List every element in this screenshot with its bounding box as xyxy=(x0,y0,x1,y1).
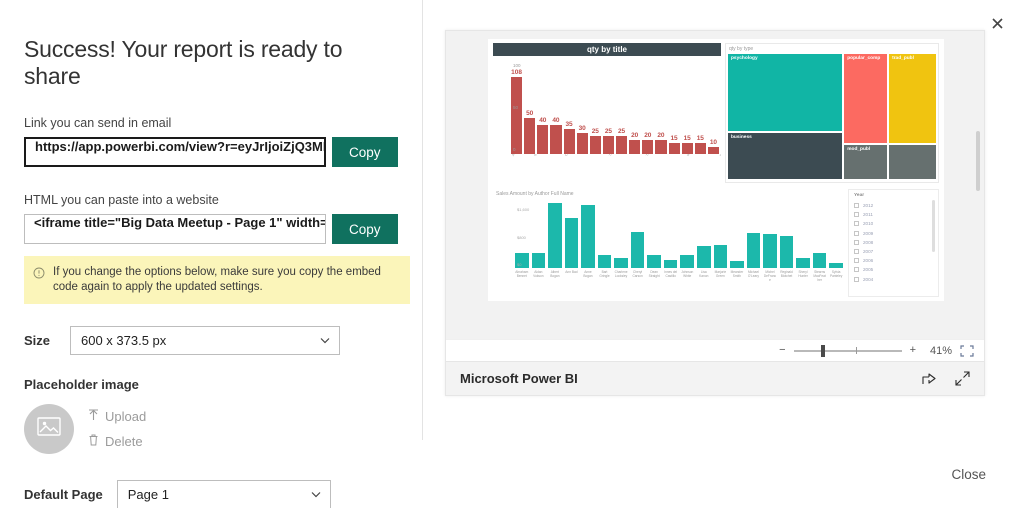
slicer-item-label: 2005 xyxy=(863,267,873,272)
axis-tick-label: Dean Straight xyxy=(647,270,661,282)
fullscreen-icon[interactable] xyxy=(955,371,970,386)
checkbox[interactable] xyxy=(854,240,859,245)
bar[interactable] xyxy=(680,255,694,268)
preview-pane: qty by title 108504040353025252520202015… xyxy=(423,0,1024,440)
copy-html-button[interactable]: Copy xyxy=(332,214,398,244)
bar[interactable] xyxy=(730,261,744,268)
copy-link-button[interactable]: Copy xyxy=(332,137,398,167)
checkbox[interactable] xyxy=(854,267,859,272)
axis-tick-label: Lisa Kanon xyxy=(697,270,711,282)
slicer-item[interactable]: 2010 xyxy=(849,219,938,228)
bar xyxy=(577,133,588,155)
bar[interactable] xyxy=(631,232,645,268)
treemap-cell-label: business xyxy=(731,135,752,140)
checkbox[interactable] xyxy=(854,258,859,263)
axis-tick-label: Innes del Castillo xyxy=(664,270,678,282)
zoom-level-value: 41% xyxy=(924,345,952,357)
treemap-cell-label: mod_publ xyxy=(847,147,870,152)
bar[interactable] xyxy=(697,246,711,268)
bar-value-label: 30 xyxy=(577,125,588,132)
checkbox[interactable] xyxy=(854,277,859,282)
embed-warning-banner: If you change the options below, make su… xyxy=(24,256,410,304)
upload-icon xyxy=(88,409,99,424)
bar xyxy=(524,118,535,154)
axis-tick-label: Michel DeFrance xyxy=(763,270,777,282)
axis-tick-label: $1,600 xyxy=(517,207,529,212)
image-placeholder-icon xyxy=(37,417,61,441)
powerbi-brand: Microsoft Power BI xyxy=(460,371,578,386)
visual-title: qty by type xyxy=(726,44,938,54)
bar-value-label: 25 xyxy=(603,128,614,135)
axis-tick-label: Bart Gringle xyxy=(598,270,612,282)
bar-column[interactable]: 25 xyxy=(590,68,601,154)
visual-qty-by-type[interactable]: qty by type psychology business xyxy=(725,43,939,183)
slicer-item[interactable]: 2009 xyxy=(849,229,938,238)
checkbox[interactable] xyxy=(854,231,859,236)
bar-column[interactable]: 40 xyxy=(537,68,548,154)
report-canvas[interactable]: qty by title 108504040353025252520202015… xyxy=(446,31,984,339)
bar-value-label: 15 xyxy=(682,135,693,142)
link-field-label: Link you can send in email xyxy=(24,116,398,130)
treemap-cell[interactable]: business xyxy=(728,133,842,179)
bar-value-label: 25 xyxy=(616,128,627,135)
bar-value-label: 10 xyxy=(708,139,719,146)
size-select-value: 600 x 373.5 px xyxy=(81,333,166,348)
slicer-item-label: 2004 xyxy=(863,277,873,282)
bar-value-label: 40 xyxy=(550,117,561,124)
treemap-cell-label: psychology xyxy=(731,56,758,61)
treemap-cell-label: trad_publ xyxy=(892,56,914,61)
slicer-item-label: 2006 xyxy=(863,258,873,263)
slicer-item-label: 2007 xyxy=(863,249,873,254)
zoom-slider[interactable] xyxy=(794,350,902,352)
treemap-cell[interactable]: popular_comp xyxy=(844,54,887,143)
bar xyxy=(511,77,522,154)
info-shield-icon xyxy=(33,266,45,284)
axis-tick-label: $0 xyxy=(517,262,521,267)
slicer-item-label: 2010 xyxy=(863,221,873,226)
upload-label: Upload xyxy=(105,409,146,424)
canvas-scrollbar[interactable] xyxy=(976,131,980,191)
size-select[interactable]: 600 x 373.5 px xyxy=(70,326,340,355)
column-chart-xaxis: Abraham BennetAidan VuksonAlbert BoganAn… xyxy=(515,270,843,282)
treemap-column-left: psychology business xyxy=(728,54,842,179)
bar-column[interactable]: 15 xyxy=(695,68,706,154)
treemap-cell[interactable]: mod_publ xyxy=(844,145,887,179)
axis-tick-label: The Lazarus Corridor Room xyxy=(645,154,686,167)
axis-tick-label: Michael O'Leary xyxy=(747,270,761,282)
link-input[interactable]: https://app.powerbi.com/view?r=eyJrIjoiZ… xyxy=(24,137,326,167)
axis-tick-label: Charlene Locksley xyxy=(614,270,628,282)
html-input[interactable]: <iframe title="Big Data Meetup - Page 1"… xyxy=(24,214,326,244)
bar xyxy=(655,140,666,154)
dialog-body: Success! Your report is ready to share L… xyxy=(0,0,1024,440)
slicer-item[interactable]: 2006 xyxy=(849,256,938,265)
bar-value-label: 25 xyxy=(590,128,601,135)
html-field-row: <iframe title="Big Data Meetup - Page 1"… xyxy=(24,214,398,244)
bar-value-label: 50 xyxy=(524,110,535,117)
checkbox[interactable] xyxy=(854,203,859,208)
axis-tick-label: Winter and the Chameleon Sunset xyxy=(719,154,721,167)
slicer-item[interactable]: 2011 xyxy=(849,210,938,219)
bar-value-label: 35 xyxy=(564,121,575,128)
bar-column[interactable]: 25 xyxy=(616,68,627,154)
axis-tick-label: Seven Stars Shining xyxy=(533,154,569,167)
bar-chart-plot: 108504040353025252520202015151510100500 xyxy=(511,56,719,154)
powerbi-footer: Microsoft Power BI xyxy=(446,361,984,395)
bar xyxy=(695,143,706,154)
bar[interactable] xyxy=(548,203,562,268)
bar-column[interactable]: 50 xyxy=(524,68,535,154)
axis-tick-label: Sylvia Panteley xyxy=(829,270,843,282)
slicer-item-label: 2012 xyxy=(863,203,873,208)
bar-column[interactable]: 35 xyxy=(564,68,575,154)
bar[interactable] xyxy=(780,236,794,268)
bar-value-label: 15 xyxy=(695,135,706,142)
size-row: Size 600 x 373.5 px xyxy=(24,326,398,355)
axis-tick-label: Meander Smith xyxy=(730,270,744,282)
bar xyxy=(564,129,575,154)
slicer-item[interactable]: 2012 xyxy=(849,201,938,210)
bar[interactable] xyxy=(647,255,661,268)
axis-tick-label: Common Trades of the Cellar xyxy=(564,154,606,167)
slicer-items: 201220112010200920082007200620052004 xyxy=(849,201,938,284)
treemap-column-mid: popular_comp mod_publ xyxy=(844,54,887,179)
slicer-item-label: 2009 xyxy=(863,231,873,236)
bar xyxy=(590,136,601,154)
bar-column[interactable]: 20 xyxy=(655,68,666,154)
bar[interactable] xyxy=(598,255,612,268)
axis-tick-label: Anne Bogan xyxy=(581,270,595,282)
report-page: qty by title 108504040353025252520202015… xyxy=(488,39,944,301)
bar xyxy=(682,143,693,154)
axis-tick-label: Cheryl Carson xyxy=(631,270,645,282)
bar-column[interactable]: 20 xyxy=(642,68,653,154)
visual-year-slicer[interactable]: Year 20122011201020092008200720062005200… xyxy=(848,189,939,297)
axis-tick-label: 50 xyxy=(513,105,518,110)
bar-value-label: 40 xyxy=(537,117,548,124)
page-title: Success! Your report is ready to share xyxy=(24,36,398,90)
settings-pane: Success! Your report is ready to share L… xyxy=(0,0,423,440)
visual-title: Sales Amount by Author Full Name xyxy=(493,189,843,200)
slicer-title: Year xyxy=(849,190,938,201)
bar-value-label: 20 xyxy=(655,132,666,139)
visual-sales-by-author[interactable]: Sales Amount by Author Full Name $1,600$… xyxy=(493,189,843,297)
axis-tick-label: Johnson White xyxy=(680,270,694,282)
bar[interactable] xyxy=(813,253,827,268)
checkbox[interactable] xyxy=(854,212,859,217)
slicer-item[interactable]: 2005 xyxy=(849,265,938,274)
axis-tick-label: Sheryl Hunter xyxy=(796,270,810,282)
embed-report-dialog: Success! Your report is ready to share L… xyxy=(0,0,1024,508)
bar-value-label: 20 xyxy=(642,132,653,139)
slicer-item[interactable]: 2007 xyxy=(849,247,938,256)
bar[interactable] xyxy=(581,205,595,268)
bar[interactable] xyxy=(763,234,777,268)
report-preview: qty by title 108504040353025252520202015… xyxy=(445,30,985,396)
treemap-cell[interactable] xyxy=(889,145,936,179)
zoom-slider-thumb[interactable] xyxy=(821,345,825,357)
bar xyxy=(616,136,627,154)
link-field-row: https://app.powerbi.com/view?r=eyJrIjoiZ… xyxy=(24,137,398,167)
axis-tick-label: Reginald Blotchet xyxy=(780,270,794,282)
chevron-down-icon xyxy=(320,335,330,346)
share-icon[interactable] xyxy=(921,372,937,386)
bar-column[interactable]: 108 xyxy=(511,68,522,154)
zoom-out-button[interactable]: − xyxy=(779,345,785,356)
zoom-slider-tick xyxy=(856,347,857,354)
slicer-item[interactable]: 2008 xyxy=(849,238,938,247)
treemap-cell-label: popular_comp xyxy=(847,56,880,61)
axis-tick-label: The Woman's Weakness xyxy=(608,154,647,167)
html-field-label: HTML you can paste into a website xyxy=(24,193,398,207)
bar xyxy=(642,140,653,154)
axis-tick-label: 100 xyxy=(513,63,521,68)
slicer-scrollbar[interactable] xyxy=(932,200,935,252)
slicer-item-label: 2011 xyxy=(863,212,873,217)
bar[interactable] xyxy=(714,245,728,268)
bar-column[interactable]: 30 xyxy=(577,68,588,154)
placeholder-image-label: Placeholder image xyxy=(24,377,398,392)
embed-warning-text: If you change the options below, make su… xyxy=(53,265,400,295)
upload-button[interactable]: Upload xyxy=(88,409,146,424)
bar-column[interactable]: 20 xyxy=(629,68,640,154)
slicer-item-label: 2008 xyxy=(863,240,873,245)
bar xyxy=(669,143,680,154)
axis-tick-label: Ann Bad xyxy=(565,270,579,282)
checkbox[interactable] xyxy=(854,249,859,254)
axis-tick-label: Albert Bogan xyxy=(548,270,562,282)
axis-tick-label: Abraham Bennet xyxy=(515,270,529,282)
treemap-grid: psychology business popular_comp xyxy=(728,54,936,179)
treemap-cell[interactable]: psychology xyxy=(728,54,842,131)
bar-column[interactable]: 10 xyxy=(708,68,719,154)
column-chart-plot: $1,600$800$0 xyxy=(515,200,843,268)
treemap-cell[interactable]: trad_publ xyxy=(889,54,936,143)
axis-tick-label: 0 xyxy=(513,147,516,152)
zoom-toolbar: − + 41% xyxy=(446,339,984,361)
fit-to-screen-icon[interactable] xyxy=(960,345,974,357)
bar-value-label: 20 xyxy=(629,132,640,139)
slicer-item[interactable]: 2004 xyxy=(849,275,938,284)
bar xyxy=(708,147,719,154)
dialog-footer: Close xyxy=(0,440,1024,508)
bar[interactable] xyxy=(796,258,810,268)
zoom-in-button[interactable]: + xyxy=(910,345,916,356)
bar xyxy=(629,140,640,154)
bar-value-label: 108 xyxy=(511,69,522,76)
bar[interactable] xyxy=(565,218,579,268)
bar[interactable] xyxy=(664,260,678,269)
visual-qty-by-title[interactable]: qty by title 108504040353025252520202015… xyxy=(493,43,721,183)
bar-column[interactable]: 40 xyxy=(550,68,561,154)
axis-tick-label: $800 xyxy=(517,235,526,240)
bar xyxy=(537,125,548,154)
bar-chart-xaxis: A Heart Like...Seven Stars ShiningCommon… xyxy=(511,154,721,180)
bar-value-label: 15 xyxy=(669,135,680,142)
visual-title: qty by title xyxy=(493,43,721,56)
axis-tick-label: Aidan Vukson xyxy=(532,270,546,282)
bar xyxy=(603,136,614,154)
size-label: Size xyxy=(24,333,70,348)
close-button[interactable]: Close xyxy=(951,467,986,482)
axis-tick-label: Stearns MacFeather xyxy=(813,270,827,282)
bar[interactable] xyxy=(829,263,843,268)
bar[interactable] xyxy=(614,258,628,268)
bar xyxy=(550,125,561,154)
bar-column[interactable]: 15 xyxy=(669,68,680,154)
bar[interactable] xyxy=(747,233,761,268)
axis-tick-label: Run to the Far Family xyxy=(686,154,721,167)
checkbox[interactable] xyxy=(854,221,859,226)
bar-column[interactable]: 15 xyxy=(682,68,693,154)
bar[interactable] xyxy=(532,253,546,268)
bar-column[interactable]: 25 xyxy=(603,68,614,154)
axis-tick-label: Marjorie Green xyxy=(714,270,728,282)
treemap-column-right: trad_publ xyxy=(889,54,936,179)
